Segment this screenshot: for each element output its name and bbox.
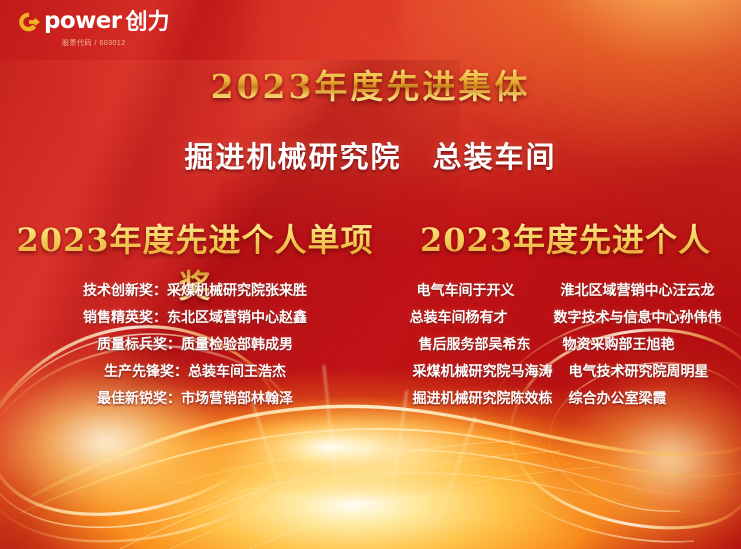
list-item: 采煤机械研究院马海涛 电气技术研究院周明星: [413, 365, 719, 379]
brand-logo: power 创力 股票代码 / 603012: [18, 10, 169, 48]
award-poster: power 创力 股票代码 / 603012 2023年度先进集体 掘进机械研究…: [0, 0, 741, 549]
page-title: 2023年度先进集体: [0, 60, 741, 108]
list-item-name-b: 数字技术与信息中心孙伟伟: [554, 311, 722, 325]
list-item: 销售精英奖：东北区域营销中心赵鑫: [83, 311, 307, 325]
list-item: 最佳新锐奖：市场营销部林翰泽: [97, 392, 293, 406]
right-award-column: 电气车间于开义 淮北区域营销中心汪云龙 总装车间杨有才 数字技术与信息中心孙伟伟…: [390, 284, 741, 419]
logo-row: power 创力: [18, 10, 169, 33]
list-item-name-a: 总装车间杨有才: [410, 311, 538, 325]
list-item: 售后服务部吴希东 物资采购部王旭艳: [419, 338, 713, 352]
list-item: 总装车间杨有才 数字技术与信息中心孙伟伟: [410, 311, 722, 325]
list-item: 掘进机械研究院陈效栋 综合办公室梁霞: [413, 392, 719, 406]
list-item: 质量标兵奖：质量检验部韩成男: [97, 338, 293, 352]
stock-code-label: 股票代码 / 603012: [62, 38, 126, 48]
page-subtitle: 掘进机械研究院 总装车间: [0, 134, 741, 176]
list-item-name-a: 售后服务部吴希东: [419, 338, 547, 352]
logo-wordmark: power: [44, 10, 121, 33]
list-item: 电气车间于开义 淮北区域营销中心汪云龙: [417, 284, 715, 298]
list-item-name-b: 综合办公室梁霞: [569, 392, 719, 406]
list-item-name-b: 物资采购部王旭艳: [563, 338, 713, 352]
list-item-name-a: 掘进机械研究院陈效栋: [413, 392, 553, 406]
list-item-name-b: 淮北区域营销中心汪云龙: [561, 284, 715, 298]
list-item: 技术创新奖：采煤机械研究院张来胜: [83, 284, 307, 298]
power-plug-ring-icon: [18, 11, 40, 33]
list-item: 生产先锋奖：总装车间王浩杰: [104, 365, 286, 379]
list-item-name-a: 采煤机械研究院马海涛: [413, 365, 553, 379]
left-award-column: 技术创新奖：采煤机械研究院张来胜 销售精英奖：东北区域营销中心赵鑫 质量标兵奖：…: [0, 284, 390, 419]
list-item-name-a: 电气车间于开义: [417, 284, 545, 298]
award-lists: 技术创新奖：采煤机械研究院张来胜 销售精英奖：东北区域营销中心赵鑫 质量标兵奖：…: [0, 284, 741, 419]
logo-wordmark-cn: 创力: [125, 11, 169, 33]
list-item-name-b: 电气技术研究院周明星: [569, 365, 719, 379]
